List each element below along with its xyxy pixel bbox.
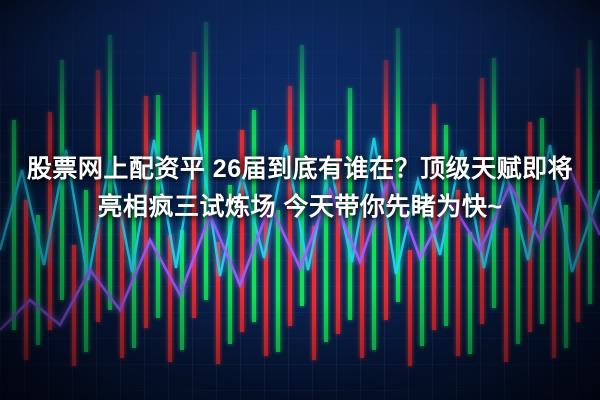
- top-haze: [0, 0, 600, 150]
- image-canvas: 股票网上配资平 26届到底有谁在？顶级天赋即将 亮相疯三试炼场 今天带你先睹为快…: [0, 0, 600, 400]
- caption-line-2: 亮相疯三试炼场 今天带你先睹为快~: [6, 188, 594, 226]
- caption-line-1: 股票网上配资平 26届到底有谁在？顶级天赋即将: [6, 150, 594, 188]
- caption-text: 股票网上配资平 26届到底有谁在？顶级天赋即将 亮相疯三试炼场 今天带你先睹为快…: [0, 150, 600, 226]
